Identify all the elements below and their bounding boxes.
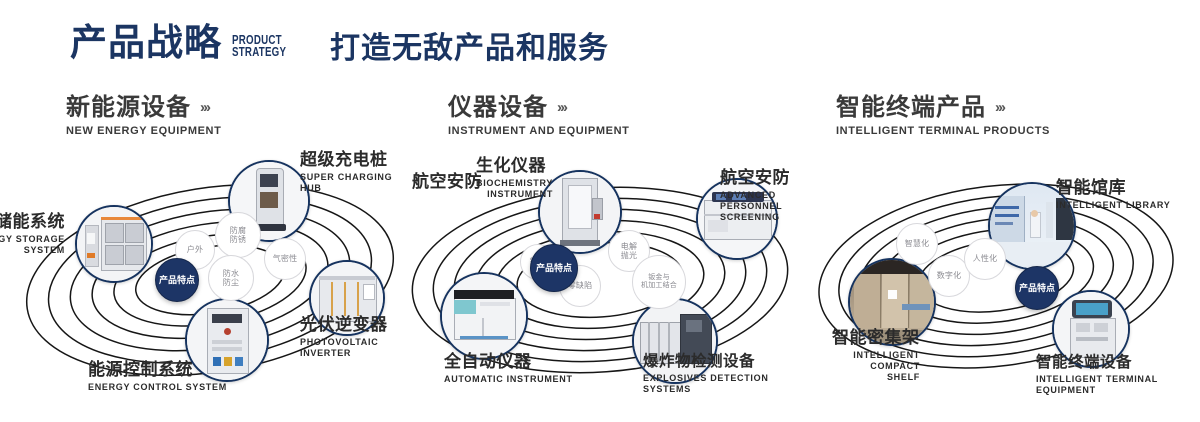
caption-terminal-equipment: 智能终端设备 INTELLIGENT TERMINAL EQUIPMENT [1036, 354, 1200, 396]
caption-energy-control: 能源控制系统 ENERGY CONTROL SYSTEM [88, 360, 227, 393]
feature-bubble: 钣金与 机加工结合 [632, 255, 686, 309]
feature-bubble: 人性化 [964, 238, 1006, 280]
section-title-cn: 新能源设备 [66, 95, 191, 121]
feature-bubble: 防腐 防锈 [215, 212, 261, 258]
caption-advanced-screening: 航空安防 ADVANCED PERSONNEL SCREENING [720, 168, 800, 223]
node-energy-storage[interactable] [75, 205, 153, 283]
section-heading-new-energy: 新能源设备 ››› NEW ENERGY EQUIPMENT [66, 95, 221, 137]
section-title-en: NEW ENERGY EQUIPMENT [66, 125, 221, 137]
chevron-right-icon: ››› [557, 100, 566, 117]
energy-storage-cabinet-icon [77, 207, 151, 281]
caption-compact-shelf: 智能密集架 INTELLIGENT COMPACT SHELF [832, 328, 920, 383]
poster-header: 产品战略 PRODUCT STRATEGY [70, 24, 302, 61]
diagram-group-instrument: 镜面 电解 抛光 钣金与 机加工结合 零缺陷 产品特点 航空安防 生化仪器 BI… [400, 150, 800, 410]
page-title-en: PRODUCT STRATEGY [232, 34, 286, 58]
chevron-right-icon: ››› [200, 100, 209, 117]
diagram-group-intelligent: 智慧化 数字化 人性化 产品特点 智能馆库 INTELLIGENT LIBRAR… [800, 150, 1200, 410]
caption-charging-hub: 超级充电桩 SUPER CHARGING HUB [300, 150, 410, 194]
caption-aviation-security-left: 航空安防 [412, 172, 482, 192]
caption-energy-storage: 储能系统 ENERGY STORAGE SYSTEM [0, 212, 65, 256]
section-heading-instrument: 仪器设备 ››› INSTRUMENT AND EQUIPMENT [448, 95, 629, 137]
section-title-cn: 智能终端产品 [836, 95, 986, 121]
page-title: 产品战略 [70, 24, 222, 61]
feature-bubble: 智慧化 [896, 223, 938, 265]
chevron-right-icon: ››› [995, 100, 1004, 117]
feature-bubble: 气密性 [264, 238, 306, 280]
section-title-en: INTELLIGENT TERMINAL PRODUCTS [836, 125, 1050, 137]
diagram-group-new-energy: 户外 防腐 防锈 气密性 防水 防尘 产品特点 储能系统 ENERGY STOR… [10, 150, 410, 410]
section-title-cn: 仪器设备 [448, 95, 548, 121]
automatic-analyzer-icon [442, 274, 526, 358]
feature-bubble: 防水 防尘 [208, 255, 254, 301]
core-badge: 产品特点 [1015, 266, 1059, 310]
core-badge: 产品特点 [155, 258, 199, 302]
section-title-en: INSTRUMENT AND EQUIPMENT [448, 125, 629, 137]
caption-biochemistry-instrument: 生化仪器 BIOCHEMISTRY INSTRUMENT [476, 156, 553, 200]
caption-explosives-detection: 爆炸物检测设备 EXPLOSIVES DETECTION SYSTEMS [643, 353, 800, 395]
caption-automatic-instrument: 全自动仪器 AUTOMATIC INSTRUMENT [444, 352, 573, 385]
section-heading-intelligent: 智能终端产品 ››› INTELLIGENT TERMINAL PRODUCTS [836, 95, 1050, 137]
node-automatic-instrument[interactable] [440, 272, 528, 360]
caption-intelligent-library: 智能馆库 INTELLIGENT LIBRARY [1056, 178, 1170, 211]
poster-canvas: 产品战略 PRODUCT STRATEGY 打造无敌产品和服务 新能源设备 ››… [0, 0, 1200, 422]
core-badge: 产品特点 [530, 244, 578, 292]
caption-pv-inverter: 光伏逆变器 PHOTOVOLTAIC INVERTER [300, 315, 410, 359]
page-slogan: 打造无敌产品和服务 [330, 32, 609, 65]
